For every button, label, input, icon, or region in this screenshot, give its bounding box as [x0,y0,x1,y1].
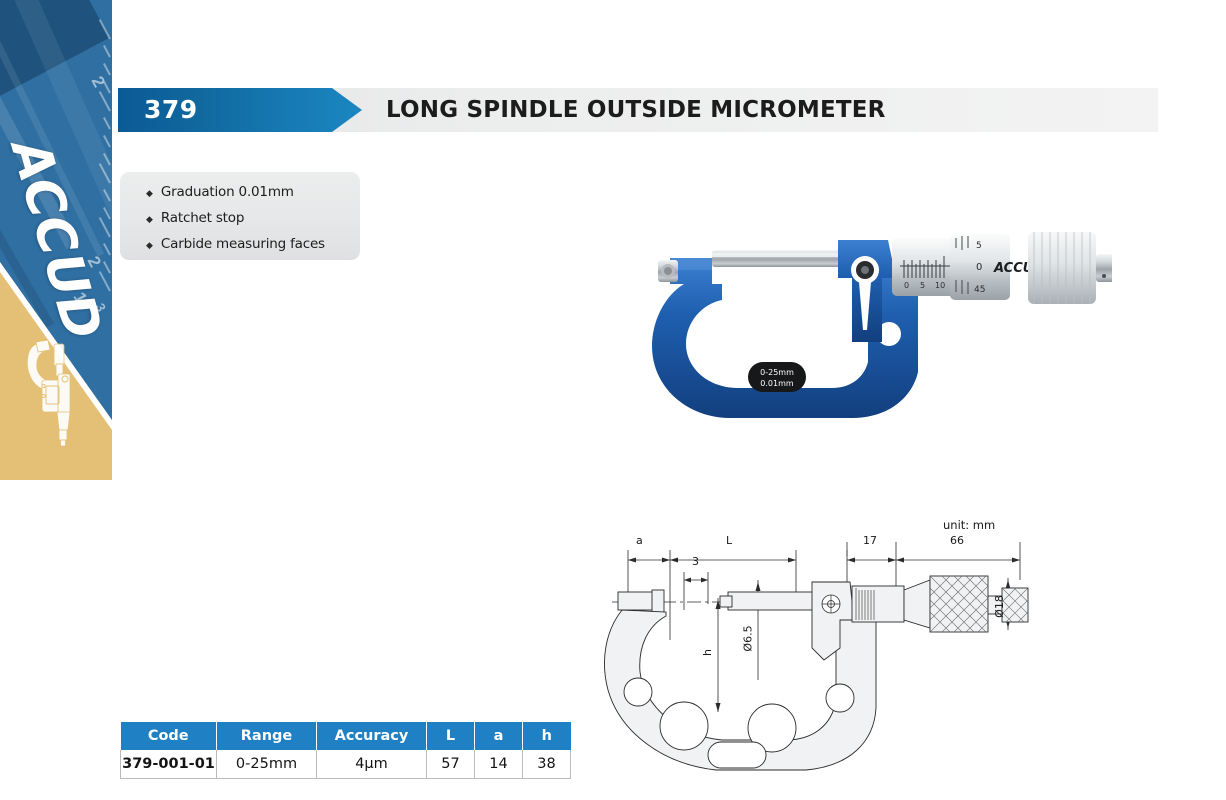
diamond-bullet-icon: ◆ [146,241,153,250]
thimble-mark: 5 [976,241,982,251]
diamond-bullet-icon: ◆ [146,189,153,198]
column-header-a: a [475,722,523,750]
product-photo: 0-25mm 0.01mm 0 5 10 [552,222,1112,442]
drawing-svg [600,520,1040,790]
column-header-range: Range [217,722,317,750]
product-code: 379 [144,88,198,132]
thimble-mark: 45 [974,285,985,295]
dim-label-66: 66 [950,534,964,547]
dim-label-h: h [701,649,714,656]
cell-a: 14 [475,750,523,779]
column-header-h: h [523,722,571,750]
dim-label-L: L [726,534,732,547]
specification-table: Code Range Accuracy L a h 379-001-01 0-2… [120,722,571,779]
brand-sidebar: 2 2 1 3 ACCUD [0,0,112,480]
barrel-mark: 10 [935,281,945,290]
barrel-mark: 5 [920,281,925,290]
dim-label-d65: Ø6.5 [742,625,755,651]
product-header-banner: 379 LONG SPINDLE OUTSIDE MICROMETER [118,88,1158,132]
page-title: LONG SPINDLE OUTSIDE MICROMETER [386,88,886,132]
frame-label-graduation: 0.01mm [760,379,794,388]
catalog-page: 2 2 1 3 ACCUD [0,0,1226,800]
feature-label: Graduation 0.01mm [161,184,294,200]
feature-item: ◆ Graduation 0.01mm [146,184,360,200]
cell-L: 57 [427,750,475,779]
micrometer-icon [24,330,86,450]
feature-item: ◆ Carbide measuring faces [146,236,360,252]
table-row[interactable]: 379-001-01 0-25mm 4µm 57 14 38 [121,750,571,779]
unit-note: unit: mm [943,518,995,532]
features-box: ◆ Graduation 0.01mm ◆ Ratchet stop ◆ Car… [120,172,360,260]
dim-label-17: 17 [863,534,877,547]
diamond-bullet-icon: ◆ [146,215,153,224]
dim-label-3: 3 [692,555,699,568]
cell-code: 379-001-01 [121,750,217,779]
feature-label: Carbide measuring faces [161,236,325,252]
feature-label: Ratchet stop [161,210,244,226]
table-header-row: Code Range Accuracy L a h [121,722,571,750]
barrel-mark: 0 [904,281,909,290]
cell-range: 0-25mm [217,750,317,779]
column-header-accuracy: Accuracy [317,722,427,750]
feature-item: ◆ Ratchet stop [146,210,360,226]
dim-label-a: a [636,534,643,547]
thimble-mark: 0 [976,262,982,273]
frame-label-range: 0-25mm [760,368,794,377]
cell-accuracy: 4µm [317,750,427,779]
technical-drawing: a L 3 17 66 h Ø6.5 Ø18 unit: mm [600,520,1040,790]
dim-label-d18: Ø18 [993,595,1006,618]
column-header-code: Code [121,722,217,750]
cell-h: 38 [523,750,571,779]
column-header-L: L [427,722,475,750]
